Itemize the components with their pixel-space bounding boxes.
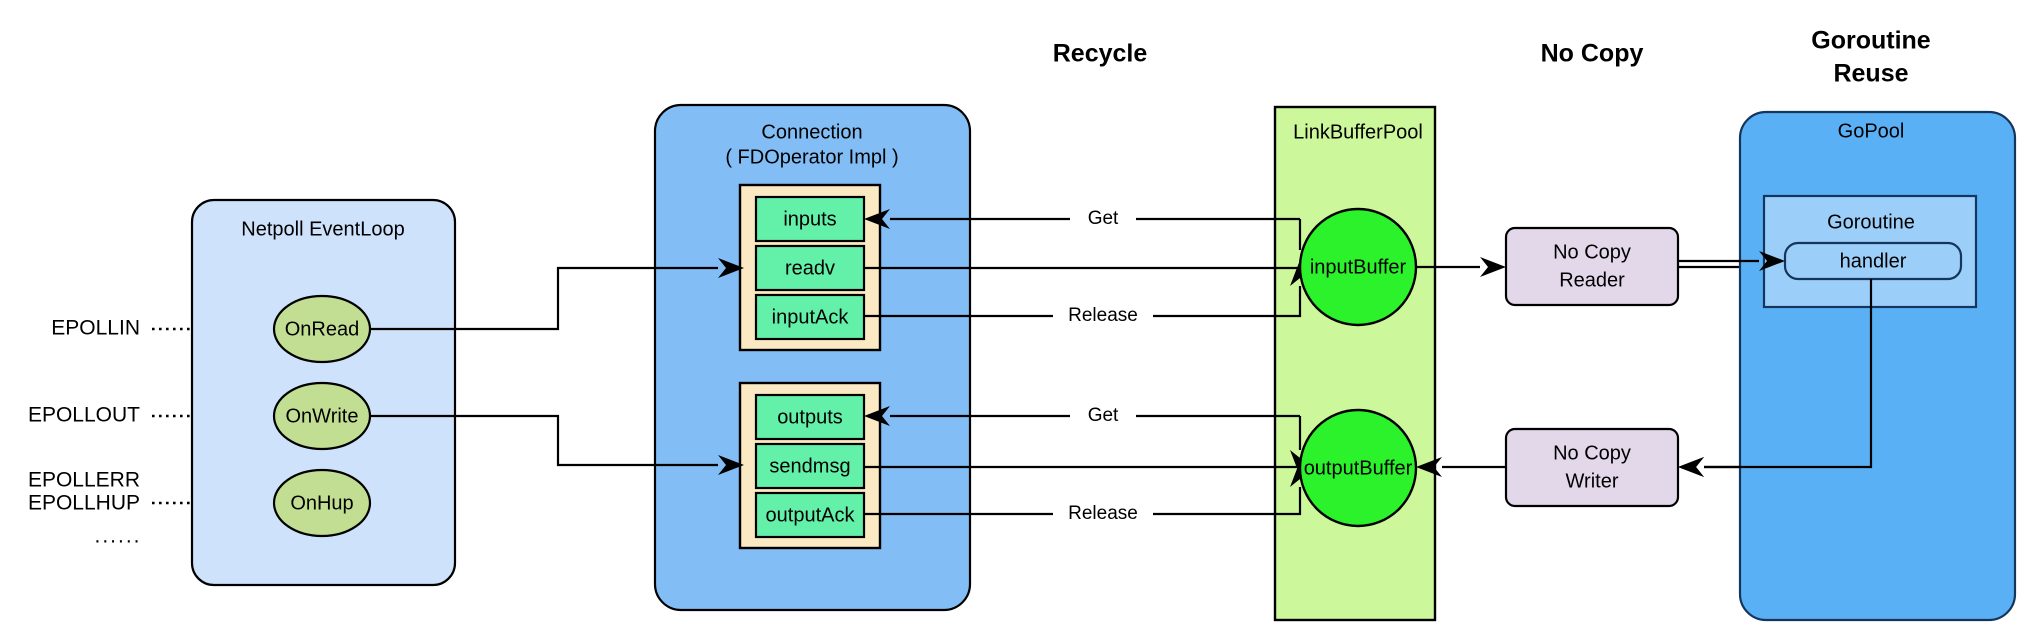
gopool-container[interactable]: GoPool Goroutine handler [1740,112,2015,620]
method-label-inputack: inputAck [772,306,850,328]
connection-container[interactable]: Connection ( FDOperator Impl ) inputs re… [655,105,970,610]
nocopy-reader-label-line2: Reader [1559,269,1625,291]
connection-title-line2: ( FDOperator Impl ) [725,146,898,168]
nocopy-writer-box[interactable] [1506,429,1678,506]
signal-label-epollin: EPOLLIN [51,317,140,340]
nocopy-reader-label-line1: No Copy [1553,241,1631,263]
signal-label-ellipsis: ...... [94,525,141,548]
nocopy-writer-label-line1: No Copy [1553,442,1631,464]
nocopy-writer-label-line2: Writer [1566,470,1619,492]
linkbufferpool-box[interactable] [1275,107,1435,620]
edge-label-release-input: Release [1068,305,1138,326]
method-label-readv: readv [785,257,835,279]
architecture-diagram: Recycle No Copy Goroutine Reuse EPOLLIN … [0,0,2032,639]
edge-label-get-output: Get [1088,405,1119,426]
linkbufferpool-title: LinkBufferPool [1293,121,1423,143]
gopool-box[interactable] [1740,112,2015,620]
handler-label-onwrite: OnWrite [286,405,359,427]
diagram-canvas: Recycle No Copy Goroutine Reuse EPOLLIN … [0,0,2032,639]
handler-label-onhup: OnHup [290,492,353,514]
method-label-outputack: outputAck [766,504,856,526]
edge-label-get-input: Get [1088,208,1119,229]
linkbufferpool-container[interactable]: LinkBufferPool [1275,107,1435,620]
signal-label-epollout: EPOLLOUT [28,404,140,427]
signal-label-epollhup: EPOLLHUP [28,492,140,515]
handler-box-label: handler [1840,250,1907,272]
section-heading-no-copy: No Copy [1541,40,1644,68]
section-heading-recycle: Recycle [1053,40,1148,68]
goroutine-title: Goroutine [1827,211,1915,233]
nocopy-writer-node[interactable]: No Copy Writer [1506,429,1678,506]
buffer-label-inputbuffer: inputBuffer [1310,256,1407,278]
method-label-outputs: outputs [777,406,843,428]
method-label-inputs: inputs [783,208,836,230]
signal-label-epollerr: EPOLLERR [28,469,140,492]
section-heading-reuse: Reuse [1833,60,1908,88]
section-heading-goroutine: Goroutine [1811,27,1931,55]
gopool-title: GoPool [1838,120,1905,142]
edge-label-release-output: Release [1068,503,1138,524]
netpoll-eventloop-title: Netpoll EventLoop [241,218,404,240]
nocopy-reader-box[interactable] [1506,228,1678,305]
nocopy-reader-node[interactable]: No Copy Reader [1506,228,1678,305]
buffer-label-outputbuffer: outputBuffer [1304,457,1413,479]
method-label-sendmsg: sendmsg [769,455,850,477]
handler-label-onread: OnRead [285,318,360,340]
netpoll-eventloop-container[interactable]: Netpoll EventLoop OnRead OnWrite OnHup [192,200,455,585]
connection-title-line1: Connection [761,121,862,143]
